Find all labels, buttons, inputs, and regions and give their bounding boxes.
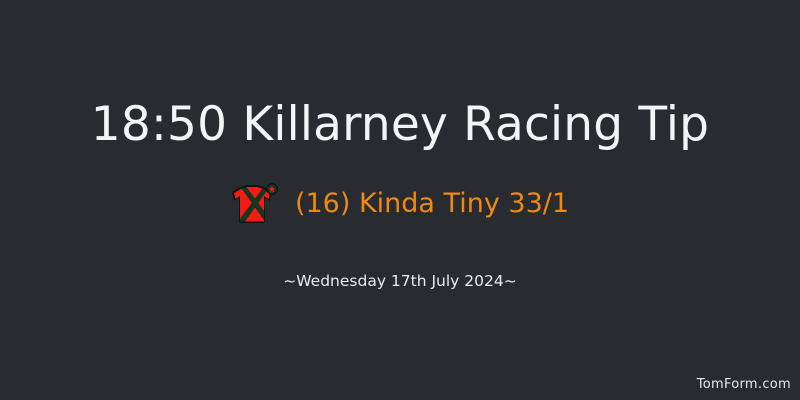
tip-selection-text: (16) Kinda Tiny 33/1 xyxy=(295,187,569,221)
racing-tip-card: 18:50 Killarney Racing Tip (16) Kinda Ti… xyxy=(0,0,800,400)
jockey-silks-icon xyxy=(231,183,279,225)
race-date: ~Wednesday 17th July 2024~ xyxy=(0,271,800,291)
page-title: 18:50 Killarney Racing Tip xyxy=(0,96,800,154)
tip-row: (16) Kinda Tiny 33/1 xyxy=(0,183,800,225)
site-watermark: TomForm.com xyxy=(697,376,791,393)
